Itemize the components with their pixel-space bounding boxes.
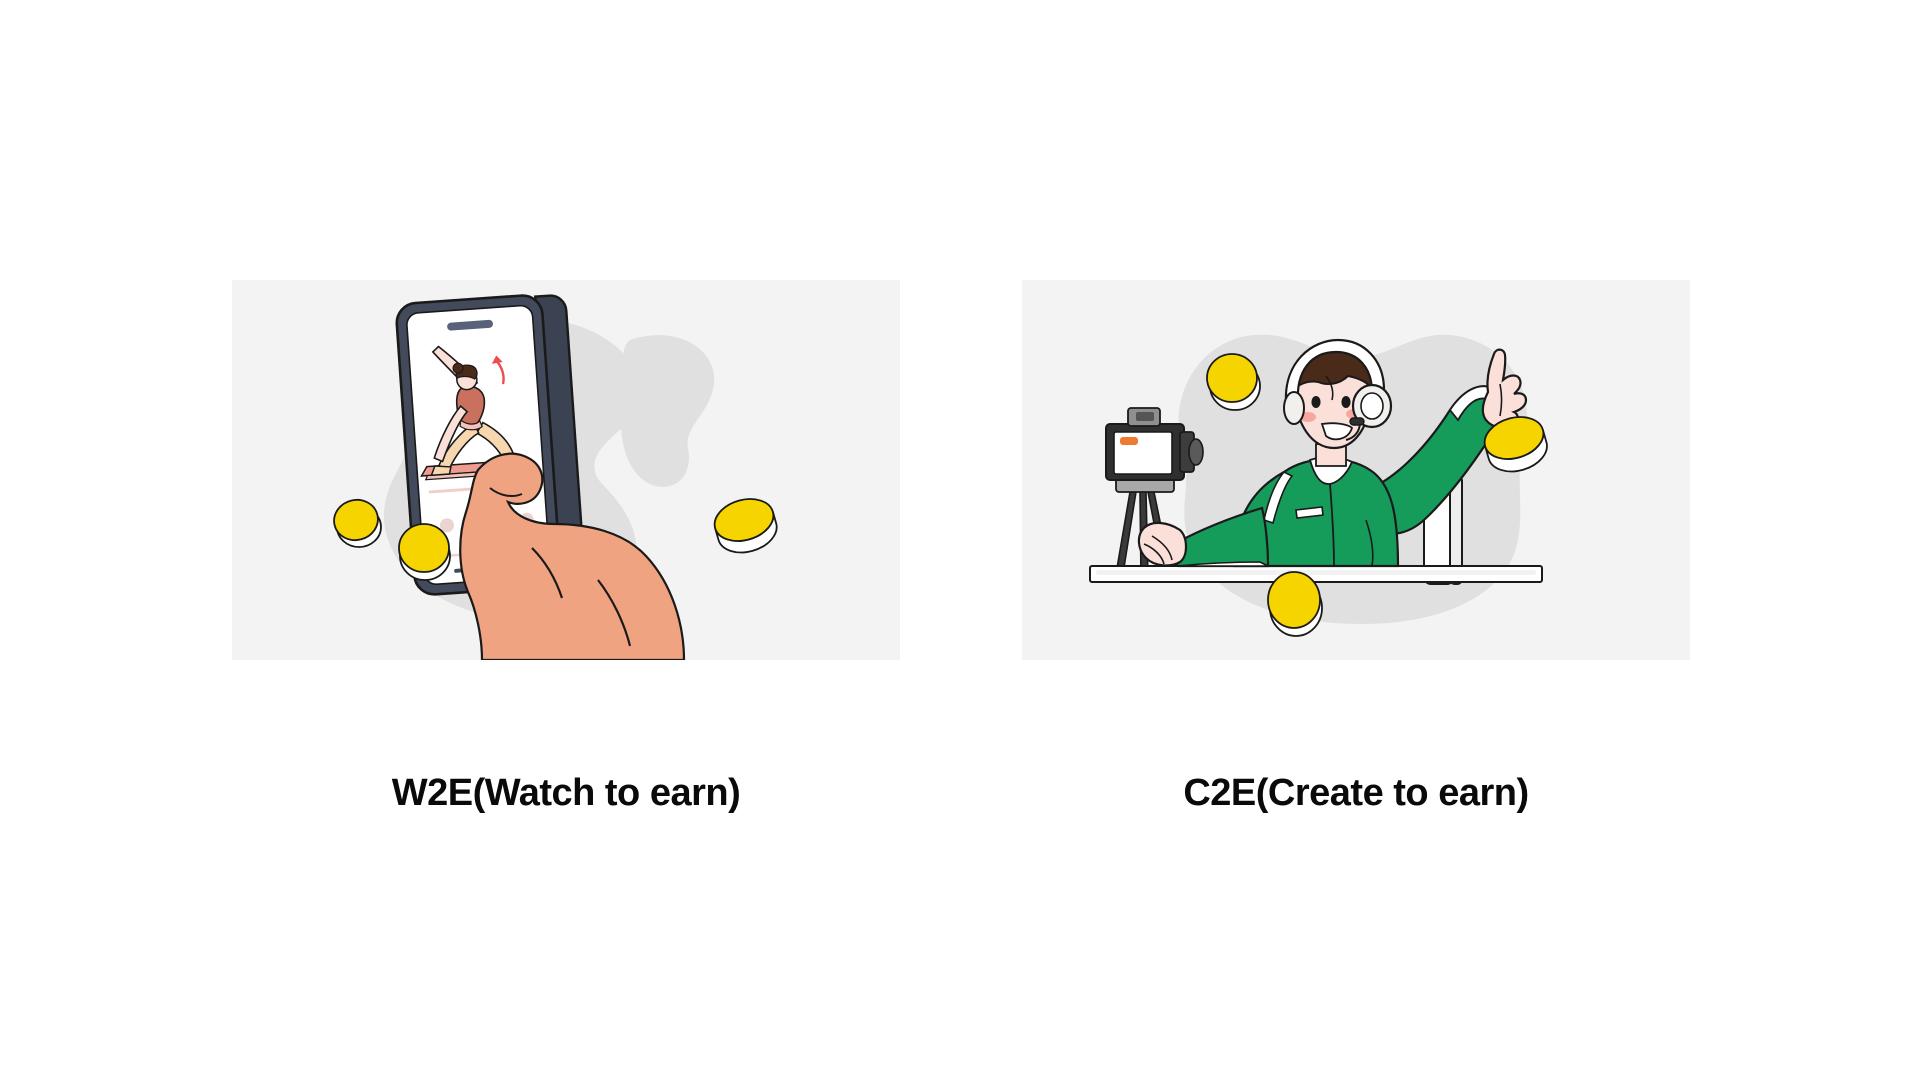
illustration-panel-w2e bbox=[232, 280, 900, 660]
watch-to-earn-illustration bbox=[232, 280, 900, 660]
right-eye bbox=[1341, 396, 1350, 408]
illustration-card-c2e: C2E(Create to earn) bbox=[1022, 280, 1690, 815]
page-root: W2E(Watch to earn) bbox=[0, 0, 1920, 1080]
card-caption-w2e: W2E(Watch to earn) bbox=[232, 772, 900, 815]
coin-bottom bbox=[399, 524, 450, 580]
illustration-panel-c2e bbox=[1022, 280, 1690, 660]
card-caption-c2e: C2E(Create to earn) bbox=[1022, 772, 1690, 815]
coin-bottom bbox=[1268, 572, 1322, 636]
microphone bbox=[1350, 418, 1364, 425]
coin-upper-left bbox=[1207, 354, 1260, 410]
desk-surface bbox=[1090, 566, 1542, 582]
headphone-cup-left bbox=[1284, 392, 1304, 424]
coin-left bbox=[330, 495, 382, 547]
left-eye bbox=[1311, 396, 1320, 408]
create-to-earn-illustration bbox=[1022, 280, 1690, 660]
camera-lens bbox=[1189, 439, 1203, 465]
recording-indicator bbox=[1120, 437, 1138, 445]
illustration-card-w2e: W2E(Watch to earn) bbox=[232, 280, 900, 815]
coin-right bbox=[710, 493, 782, 560]
